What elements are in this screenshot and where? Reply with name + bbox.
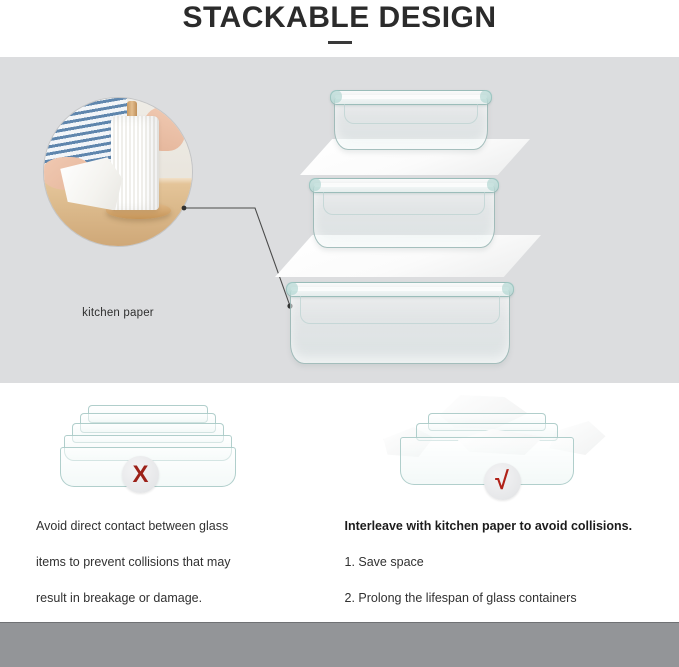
glass-rim-top: [330, 90, 492, 105]
good-caption-line: 2. Prolong the lifespan of glass contain…: [345, 591, 633, 606]
stackable-hero-panel: kitchen paper: [0, 57, 679, 383]
photo-scene: [44, 98, 192, 246]
footer-bar: [0, 622, 679, 667]
glass-container-middle: [313, 185, 495, 248]
bad-caption-line: Avoid direct contact between glass: [36, 519, 231, 534]
comparison-section: X Avoid direct contact between glass ite…: [0, 383, 679, 623]
good-caption-line: 1. Save space: [345, 555, 633, 570]
page-header: STACKABLE DESIGN: [0, 0, 679, 57]
x-badge: X: [122, 456, 159, 493]
page-title: STACKABLE DESIGN: [182, 0, 496, 36]
check-badge: √: [484, 463, 521, 500]
glass-inner-bottom: [300, 296, 500, 324]
glass-corner-right-top: [480, 90, 492, 103]
kitchen-paper-photo: [44, 98, 192, 246]
comparison-good: √ Interleave with kitchen paper to avoid…: [340, 383, 679, 623]
glass-container-top: [334, 97, 488, 150]
glass-corner-left-top: [330, 90, 342, 103]
bad-caption-line: result in breakage or damage.: [36, 591, 231, 606]
glass-corner-right-bottom: [502, 282, 514, 295]
glass-corner-left-middle: [309, 178, 321, 191]
glass-inner-top: [344, 104, 478, 124]
bad-caption-line: items to prevent collisions that may: [36, 555, 231, 570]
glass-rim-bottom: [286, 282, 514, 297]
bad-caption-block: Avoid direct contact between glass items…: [36, 519, 231, 627]
comparison-bad: X Avoid direct contact between glass ite…: [0, 383, 340, 623]
glass-inner-middle: [323, 192, 485, 215]
good-caption-block: Interleave with kitchen paper to avoid c…: [345, 519, 633, 627]
glass-corner-left-bottom: [286, 282, 298, 295]
glass-rim-middle: [309, 178, 499, 193]
stack-row-bottom: [262, 275, 582, 383]
glass-container-bottom: [290, 289, 510, 364]
title-divider: [328, 41, 352, 44]
glass-corner-right-middle: [487, 178, 499, 191]
photo-caption: kitchen paper: [44, 307, 192, 319]
good-heading: Interleave with kitchen paper to avoid c…: [345, 519, 633, 534]
